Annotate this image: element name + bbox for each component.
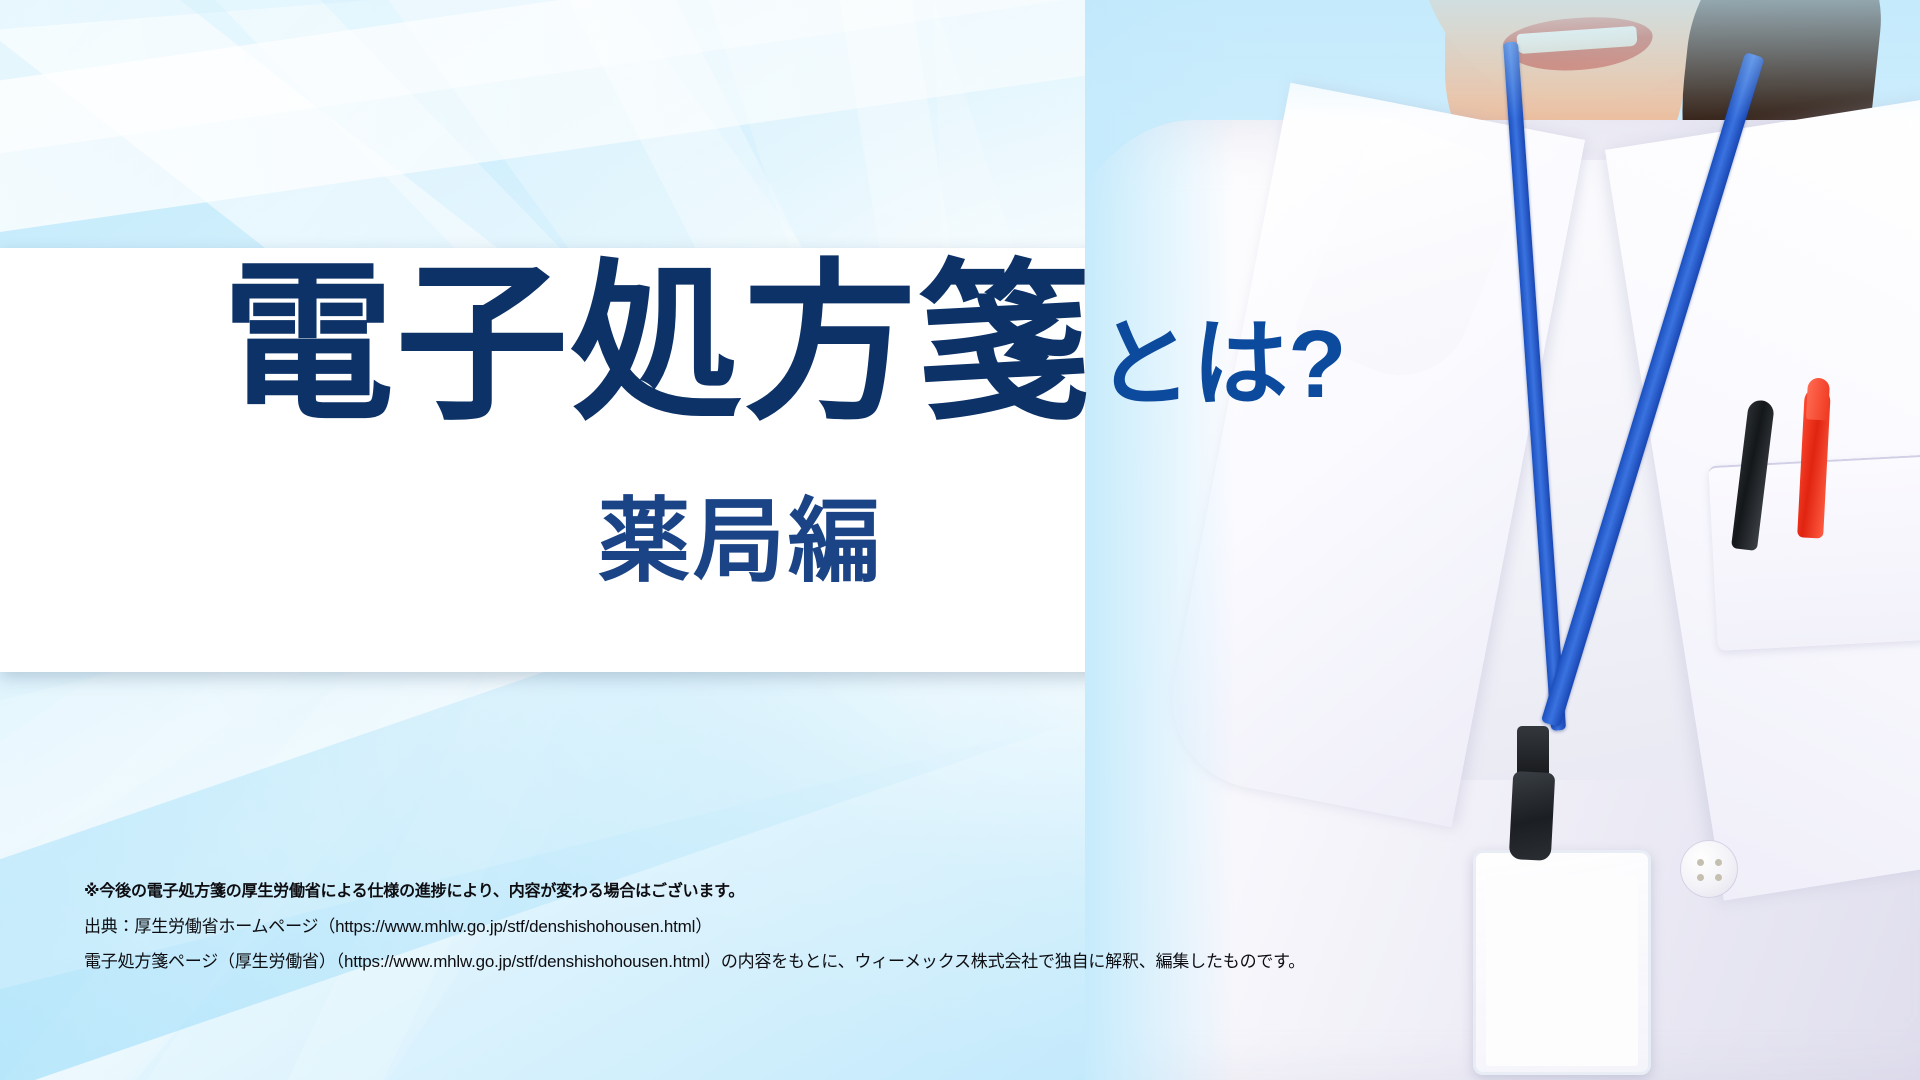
- lanyard-clip: [1509, 771, 1556, 861]
- footnote-disclaimer: ※今後の電子処方箋の厚生労働省による仕様の進捗により、内容が変わる場合はございま…: [84, 884, 1305, 900]
- footnote-attribution: 電子処方箋ページ（厚生労働省）（https://www.mhlw.go.jp/s…: [84, 953, 1305, 970]
- coat-button: [1680, 840, 1738, 898]
- slide-canvas: 電子処方箋とは? 薬局編 ※今後の電子処方箋の厚生労働省による仕様の進捗により、…: [0, 0, 1920, 1080]
- footnote-block: ※今後の電子処方箋の厚生労働省による仕様の進捗により、内容が変わる場合はございま…: [84, 884, 1305, 970]
- id-badge-card: [1486, 875, 1638, 1066]
- red-pen-cap: [1806, 377, 1830, 420]
- footnote-source: 出典：厚生労働省ホームページ（https://www.mhlw.go.jp/st…: [84, 918, 1305, 935]
- lanyard-buckle: [1517, 726, 1549, 778]
- id-badge: [1473, 850, 1651, 1075]
